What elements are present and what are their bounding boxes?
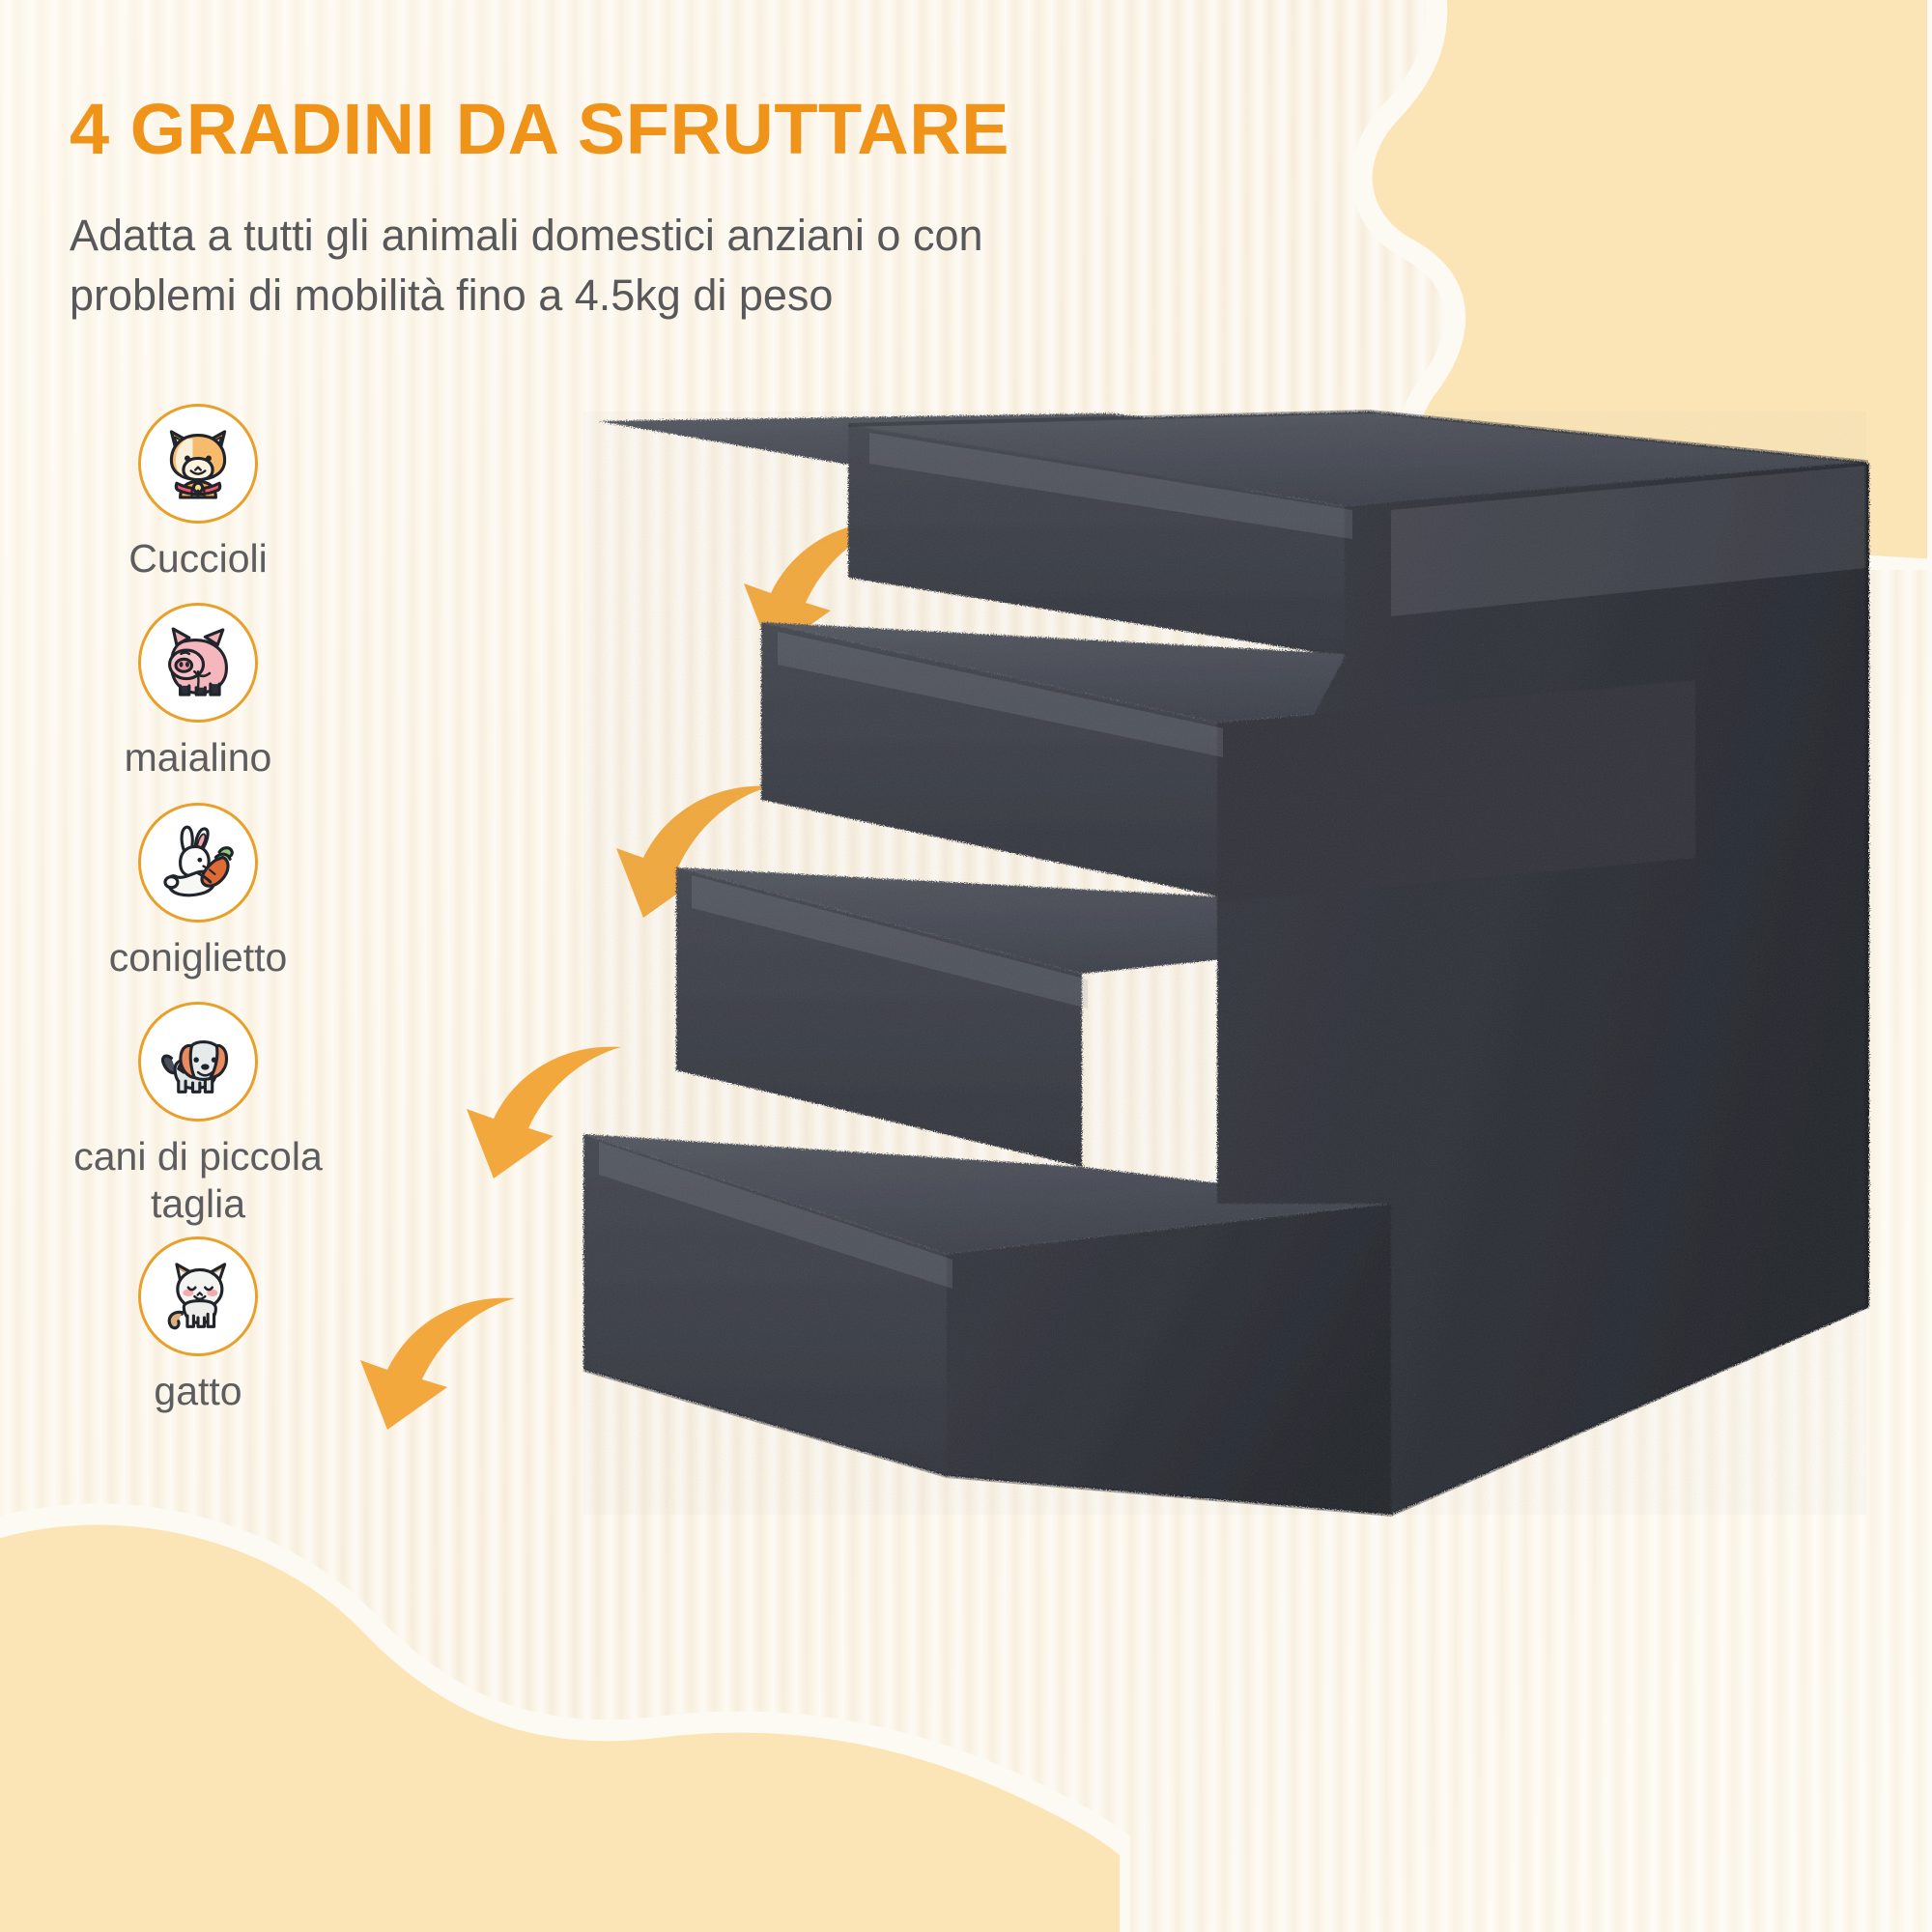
list-item: maialino (53, 603, 343, 781)
pet-label: maialino (53, 734, 343, 781)
puppy-icon (154, 419, 242, 508)
subtitle: Adatta a tutti gli animali domestici anz… (70, 206, 1074, 326)
pet-badge (138, 803, 258, 923)
cat-icon (154, 1252, 242, 1341)
pet-label: gatto (53, 1368, 343, 1414)
headline-block: 4 GRADINI DA SFRUTTARE Adatta a tutti gl… (70, 93, 1209, 326)
pet-badge (138, 603, 258, 723)
pet-label: cani di piccola taglia (53, 1133, 343, 1227)
list-item: cani di piccola taglia (53, 1002, 343, 1227)
small-dog-icon (154, 1017, 242, 1106)
page-title: 4 GRADINI DA SFRUTTARE (70, 93, 1209, 167)
list-item: coniglietto (53, 803, 343, 980)
pet-label: coniglietto (53, 934, 343, 980)
product-infographic-poster: 4 GRADINI DA SFRUTTARE Adatta a tutti gl… (0, 0, 1932, 1932)
list-item: gatto (53, 1236, 343, 1414)
pet-label: Cuccioli (53, 535, 343, 582)
rabbit-icon (154, 818, 242, 907)
pet-badge (138, 1236, 258, 1356)
pet-badge (138, 1002, 258, 1122)
pet-badge (138, 404, 258, 524)
subtitle-line-1: Adatta a tutti gli animali domestici anz… (70, 206, 1074, 266)
pig-icon (154, 618, 242, 707)
list-item: Cuccioli (53, 404, 343, 582)
pet-legend-list: Cuccioli (53, 404, 343, 1414)
subtitle-line-2: problemi di mobilità fino a 4.5kg di pes… (70, 266, 1074, 326)
